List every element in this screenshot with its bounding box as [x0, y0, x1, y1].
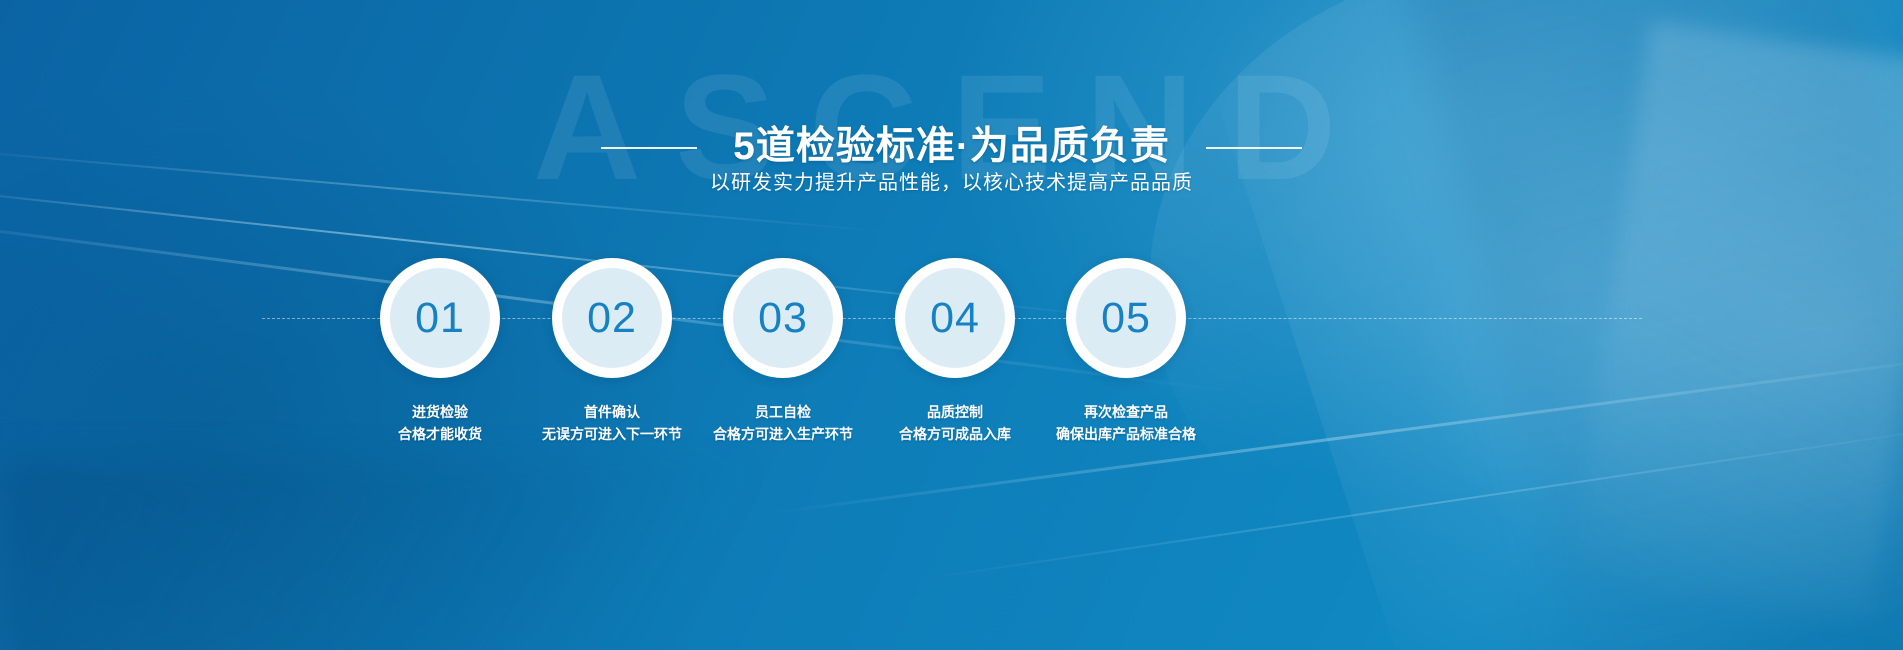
step-caption: 首件确认无误方可进入下一环节: [542, 402, 682, 445]
step-number: 04: [930, 297, 980, 340]
step-caption-line2: 合格才能收货: [398, 424, 482, 446]
step-caption-line1: 首件确认: [542, 402, 682, 424]
heading-rule-right: [1206, 147, 1302, 149]
step-circle-inner: 02: [562, 268, 662, 368]
step-caption-line1: 进货检验: [398, 402, 482, 424]
step-caption-line2: 合格方可进入生产环节: [713, 424, 853, 446]
step-caption-line2: 合格方可成品入库: [899, 424, 1011, 446]
quality-standards-banner: ASCEND 5道检验标准·为品质负责 以研发实力提升产品性能，以核心技术提高产…: [0, 0, 1903, 650]
step-circle[interactable]: 04: [895, 258, 1015, 378]
step-caption-line2: 确保出库产品标准合格: [1056, 424, 1196, 446]
step-item[interactable]: 01进货检验合格才能收货: [355, 258, 525, 445]
step-circle-inner: 03: [733, 268, 833, 368]
step-caption-line1: 再次检查产品: [1056, 402, 1196, 424]
step-circle[interactable]: 03: [723, 258, 843, 378]
step-circle-inner: 05: [1076, 268, 1176, 368]
step-item[interactable]: 04品质控制合格方可成品入库: [870, 258, 1040, 445]
step-number: 01: [415, 297, 465, 340]
step-caption-line2: 无误方可进入下一环节: [542, 424, 682, 446]
heading-rule-left: [601, 147, 697, 149]
step-caption-line1: 员工自检: [713, 402, 853, 424]
step-number: 02: [587, 297, 637, 340]
step-caption: 员工自检合格方可进入生产环节: [713, 402, 853, 445]
page-title: 5道检验标准·为品质负责: [733, 126, 1170, 169]
step-circle[interactable]: 05: [1066, 258, 1186, 378]
step-circle-inner: 04: [905, 268, 1005, 368]
steps-container: 01进货检验合格才能收货02首件确认无误方可进入下一环节03员工自检合格方可进入…: [0, 258, 1903, 458]
step-caption: 再次检查产品确保出库产品标准合格: [1056, 402, 1196, 445]
step-circle[interactable]: 01: [380, 258, 500, 378]
step-circle[interactable]: 02: [552, 258, 672, 378]
step-caption: 进货检验合格才能收货: [398, 402, 482, 445]
step-circle-inner: 01: [390, 268, 490, 368]
step-number: 05: [1101, 297, 1151, 340]
step-item[interactable]: 03员工自检合格方可进入生产环节: [698, 258, 868, 445]
background-shadow-left: [0, 460, 980, 650]
step-item[interactable]: 02首件确认无误方可进入下一环节: [527, 258, 697, 445]
step-caption-line1: 品质控制: [899, 402, 1011, 424]
page-subtitle: 以研发实力提升产品性能，以核心技术提高产品品质: [0, 166, 1903, 195]
step-number: 03: [758, 297, 808, 340]
step-item[interactable]: 05再次检查产品确保出库产品标准合格: [1041, 258, 1211, 445]
step-caption: 品质控制合格方可成品入库: [899, 402, 1011, 445]
